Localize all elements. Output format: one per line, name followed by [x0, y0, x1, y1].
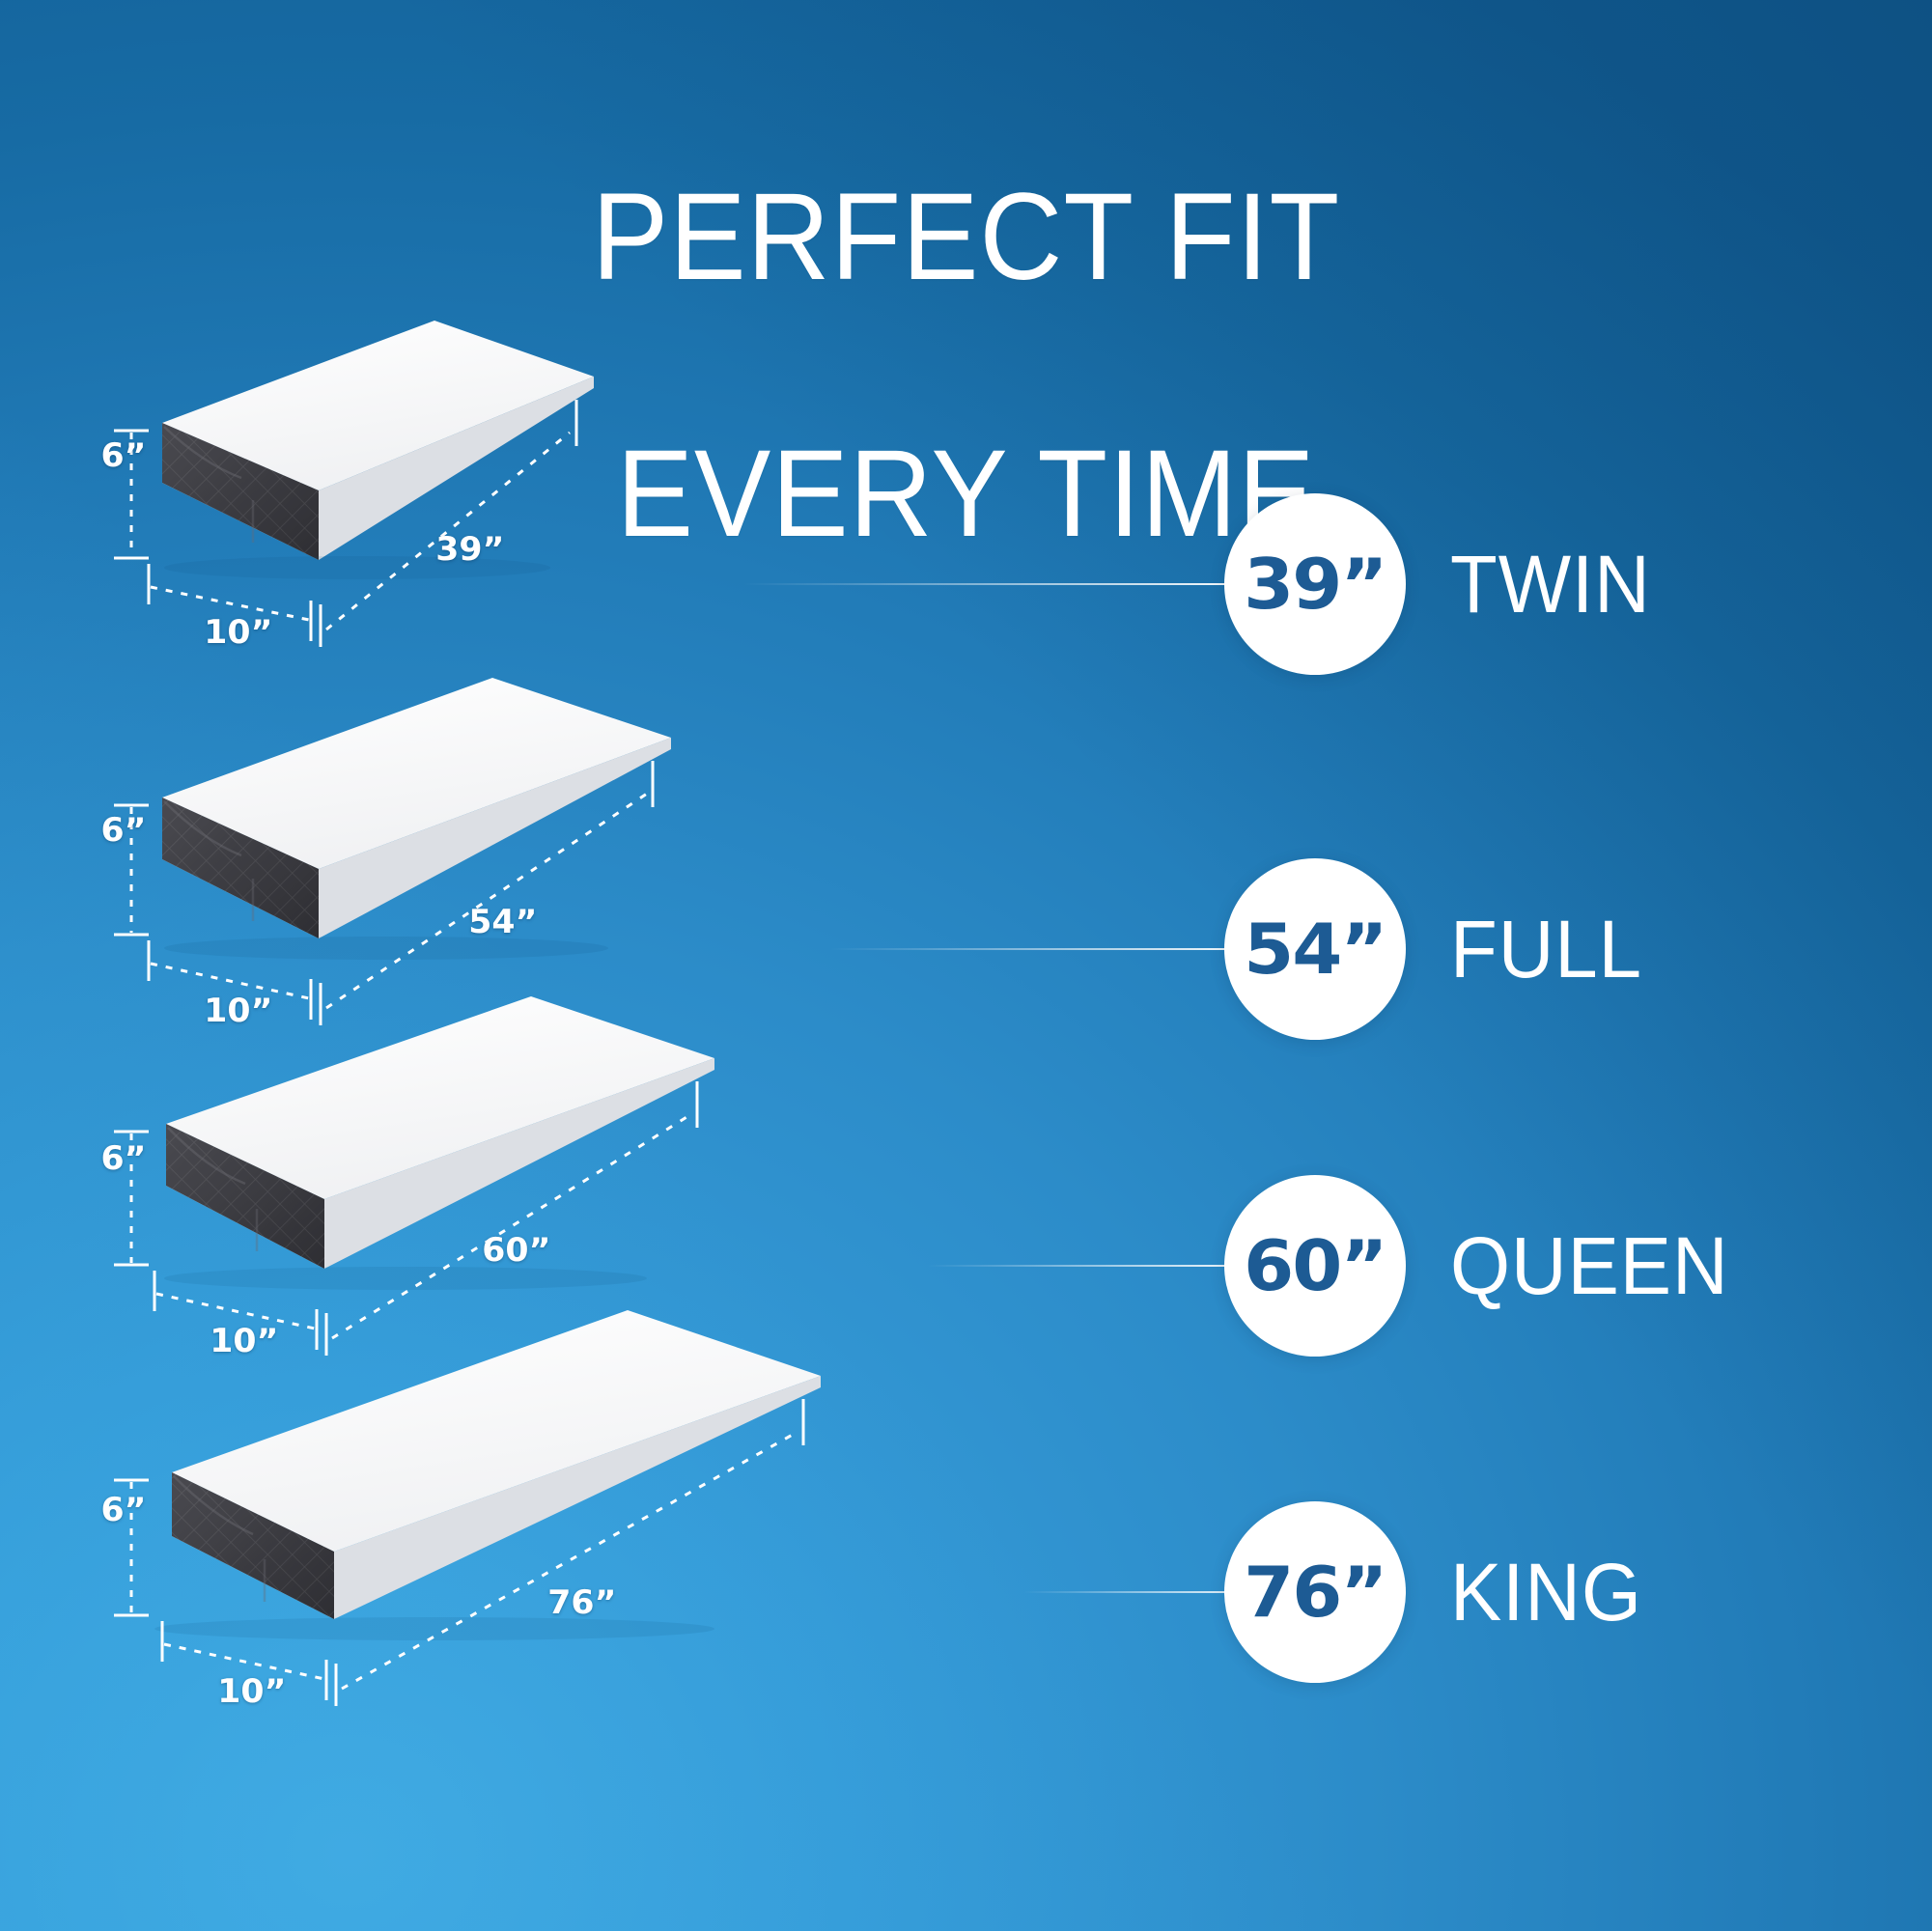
wedge-full-length-label: 54”	[468, 906, 537, 938]
badge-row-twin[interactable]: 39” TWIN	[1224, 493, 1662, 675]
badge-label-full: FULL	[1450, 909, 1642, 990]
wedge-king-depth-label: 10”	[217, 1675, 286, 1708]
wedge-queen: 6” 10” 60”	[145, 994, 1052, 1313]
badge-row-queen[interactable]: 60” QUEEN	[1224, 1175, 1744, 1357]
badge-row-full[interactable]: 54” FULL	[1224, 858, 1652, 1040]
badge-circle-twin[interactable]: 39”	[1224, 493, 1406, 675]
wedge-queen-height-label: 6”	[101, 1142, 147, 1175]
title-line-1: PERFECT FIT	[68, 173, 1864, 301]
badge-label-king: KING	[1450, 1552, 1642, 1633]
badge-label-twin: TWIN	[1450, 544, 1651, 625]
badge-value-full: 54”	[1244, 914, 1386, 984]
infographic-canvas: PERFECT FIT EVERY TIME	[0, 0, 1932, 1931]
badge-circle-queen[interactable]: 60”	[1224, 1175, 1406, 1357]
badge-value-queen: 60”	[1244, 1231, 1386, 1301]
wedge-king: 6” 10” 76”	[145, 1308, 1168, 1656]
wedge-king-length-label: 76”	[547, 1586, 616, 1619]
wedge-full-height-label: 6”	[101, 814, 147, 847]
badge-value-twin: 39”	[1244, 549, 1386, 619]
wedge-king-height-label: 6”	[101, 1494, 147, 1526]
badge-circle-full[interactable]: 54”	[1224, 858, 1406, 1040]
badge-circle-king[interactable]: 76”	[1224, 1501, 1406, 1683]
badge-value-king: 76”	[1244, 1557, 1386, 1627]
wedge-full: 6” 10” 54”	[145, 676, 975, 985]
badge-label-queen: QUEEN	[1450, 1225, 1729, 1306]
wedge-queen-length-label: 60”	[482, 1234, 550, 1267]
badge-row-king[interactable]: 76” KING	[1224, 1501, 1652, 1683]
